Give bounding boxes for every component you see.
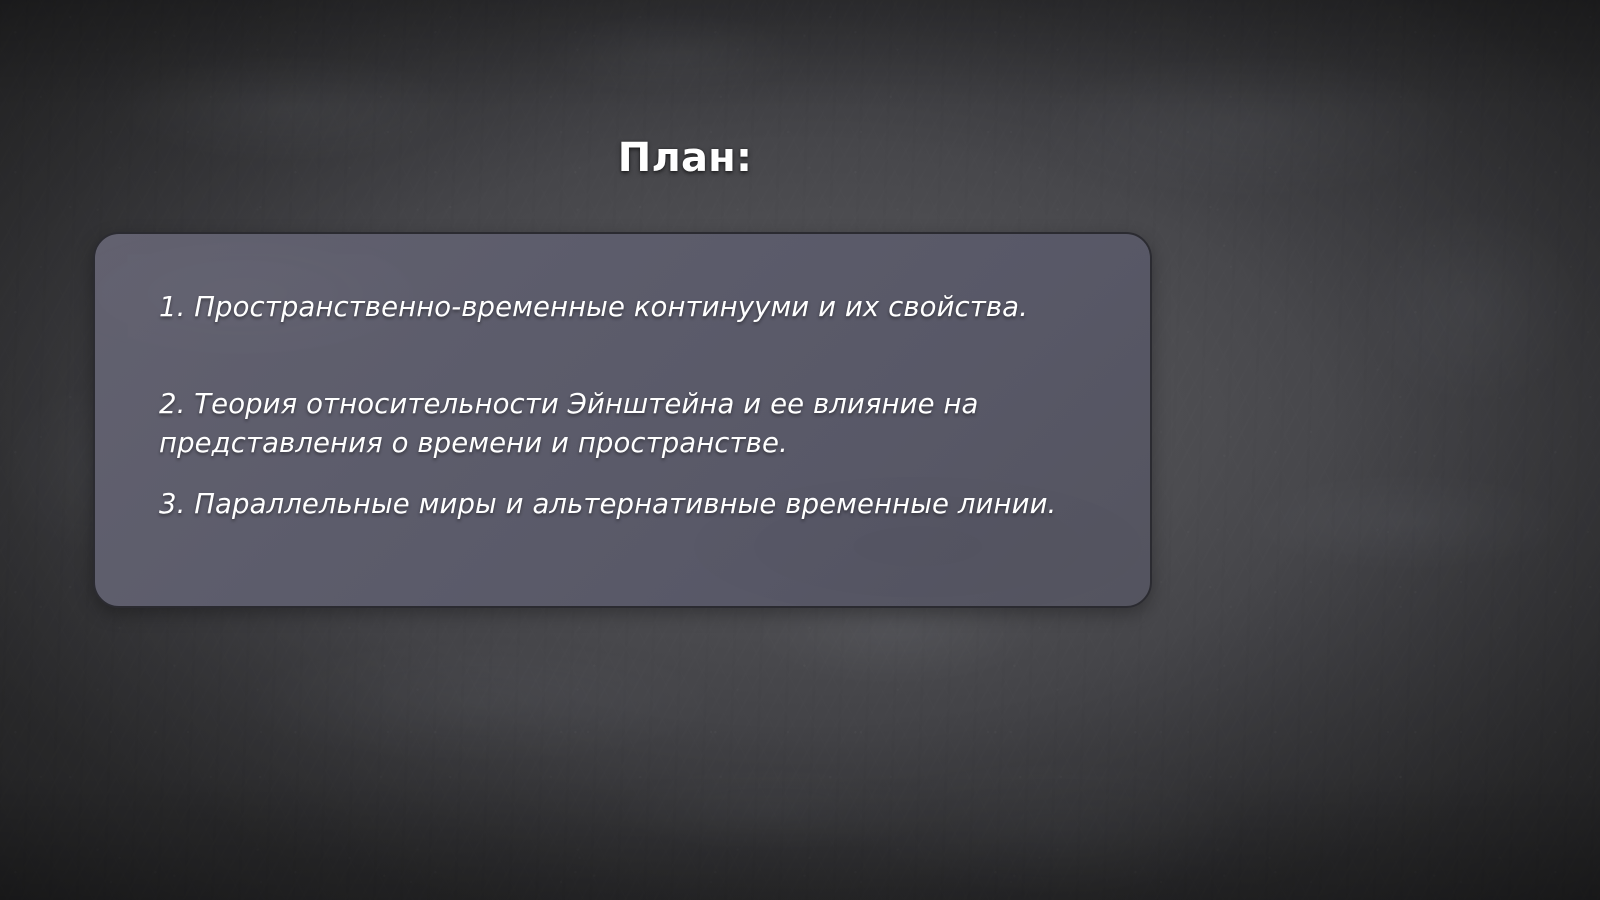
slide-canvas: План: 1. Пространственно-временные конти…: [0, 0, 1600, 900]
list-item: 2. Теория относительности Эйнштейна и ее…: [159, 385, 1069, 463]
list-item: 1. Пространственно-временные континууми …: [159, 288, 1090, 327]
plan-list: 1. Пространственно-временные континууми …: [159, 288, 1090, 524]
list-item: 3. Параллельные миры и альтернативные вр…: [159, 485, 1090, 524]
plan-panel: 1. Пространственно-временные континууми …: [93, 232, 1152, 608]
slide-title: План:: [0, 137, 1370, 179]
